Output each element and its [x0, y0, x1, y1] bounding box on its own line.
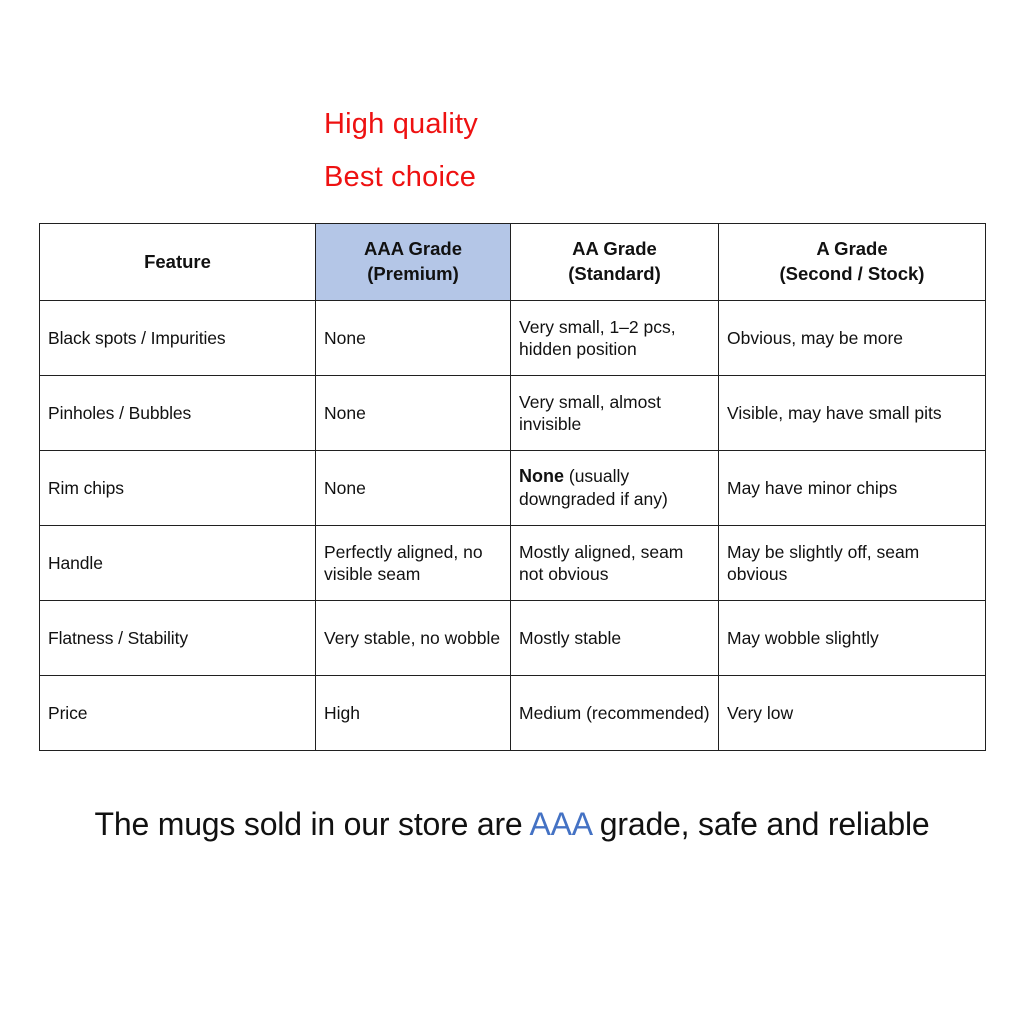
table-row: Pinholes / BubblesNoneVery small, almost… [40, 376, 986, 451]
caption-text-after: grade, safe and reliable [591, 806, 929, 842]
cell-aaa-grade: None [316, 376, 511, 451]
column-header-aa-line2: (Standard) [568, 263, 661, 284]
cell-feature: Rim chips [40, 451, 316, 526]
table-header-row: Feature AAA Grade (Premium) AA Grade (St… [40, 224, 986, 301]
grade-comparison-table: Feature AAA Grade (Premium) AA Grade (St… [39, 223, 986, 751]
table-row: HandlePerfectly aligned, no visible seam… [40, 526, 986, 601]
column-header-aa-grade: AA Grade (Standard) [511, 224, 719, 301]
column-header-aaa-line2: (Premium) [367, 263, 459, 284]
cell-aa-grade: None (usually downgraded if any) [511, 451, 719, 526]
promo-heading-high-quality: High quality [324, 110, 478, 139]
cell-aa-grade: Very small, 1–2 pcs, hidden position [511, 301, 719, 376]
infographic-page: { "promo": { "line1": "High quality", "l… [0, 0, 1024, 1024]
cell-a-grade: May have minor chips [719, 451, 986, 526]
grade-comparison-table-wrapper: Feature AAA Grade (Premium) AA Grade (St… [39, 223, 985, 751]
cell-aaa-grade: Perfectly aligned, no visible seam [316, 526, 511, 601]
table-row: PriceHighMedium (recommended)Very low [40, 676, 986, 751]
table-body: Black spots / ImpuritiesNoneVery small, … [40, 301, 986, 751]
cell-aa-grade: Very small, almost invisible [511, 376, 719, 451]
table-row: Rim chipsNoneNone (usually downgraded if… [40, 451, 986, 526]
caption-accent-aaa: AAA [529, 806, 591, 842]
cell-a-grade: Obvious, may be more [719, 301, 986, 376]
cell-aa-grade-emphasis: None [519, 466, 564, 486]
promo-heading-best-choice: Best choice [324, 163, 476, 192]
cell-aaa-grade: None [316, 451, 511, 526]
column-header-aaa-line1: AAA Grade [364, 238, 462, 259]
column-header-aa-line1: AA Grade [572, 238, 657, 259]
cell-a-grade: Very low [719, 676, 986, 751]
cell-aa-grade: Mostly stable [511, 601, 719, 676]
cell-aa-grade: Medium (recommended) [511, 676, 719, 751]
cell-feature: Price [40, 676, 316, 751]
table-header: Feature AAA Grade (Premium) AA Grade (St… [40, 224, 986, 301]
column-header-a-grade: A Grade (Second / Stock) [719, 224, 986, 301]
cell-aaa-grade: Very stable, no wobble [316, 601, 511, 676]
cell-aaa-grade: None [316, 301, 511, 376]
cell-a-grade: May be slightly off, seam obvious [719, 526, 986, 601]
caption-text-before: The mugs sold in our store are [95, 806, 530, 842]
table-row: Black spots / ImpuritiesNoneVery small, … [40, 301, 986, 376]
column-header-feature-line1: Feature [144, 251, 211, 272]
cell-feature: Black spots / Impurities [40, 301, 316, 376]
cell-aaa-grade: High [316, 676, 511, 751]
cell-feature: Handle [40, 526, 316, 601]
cell-a-grade: Visible, may have small pits [719, 376, 986, 451]
cell-feature: Flatness / Stability [40, 601, 316, 676]
cell-a-grade: May wobble slightly [719, 601, 986, 676]
store-grade-caption: The mugs sold in our store are AAA grade… [0, 806, 1024, 843]
column-header-a-line2: (Second / Stock) [780, 263, 925, 284]
column-header-feature: Feature [40, 224, 316, 301]
column-header-aaa-grade: AAA Grade (Premium) [316, 224, 511, 301]
cell-feature: Pinholes / Bubbles [40, 376, 316, 451]
column-header-a-line1: A Grade [816, 238, 887, 259]
table-row: Flatness / StabilityVery stable, no wobb… [40, 601, 986, 676]
cell-aa-grade: Mostly aligned, seam not obvious [511, 526, 719, 601]
